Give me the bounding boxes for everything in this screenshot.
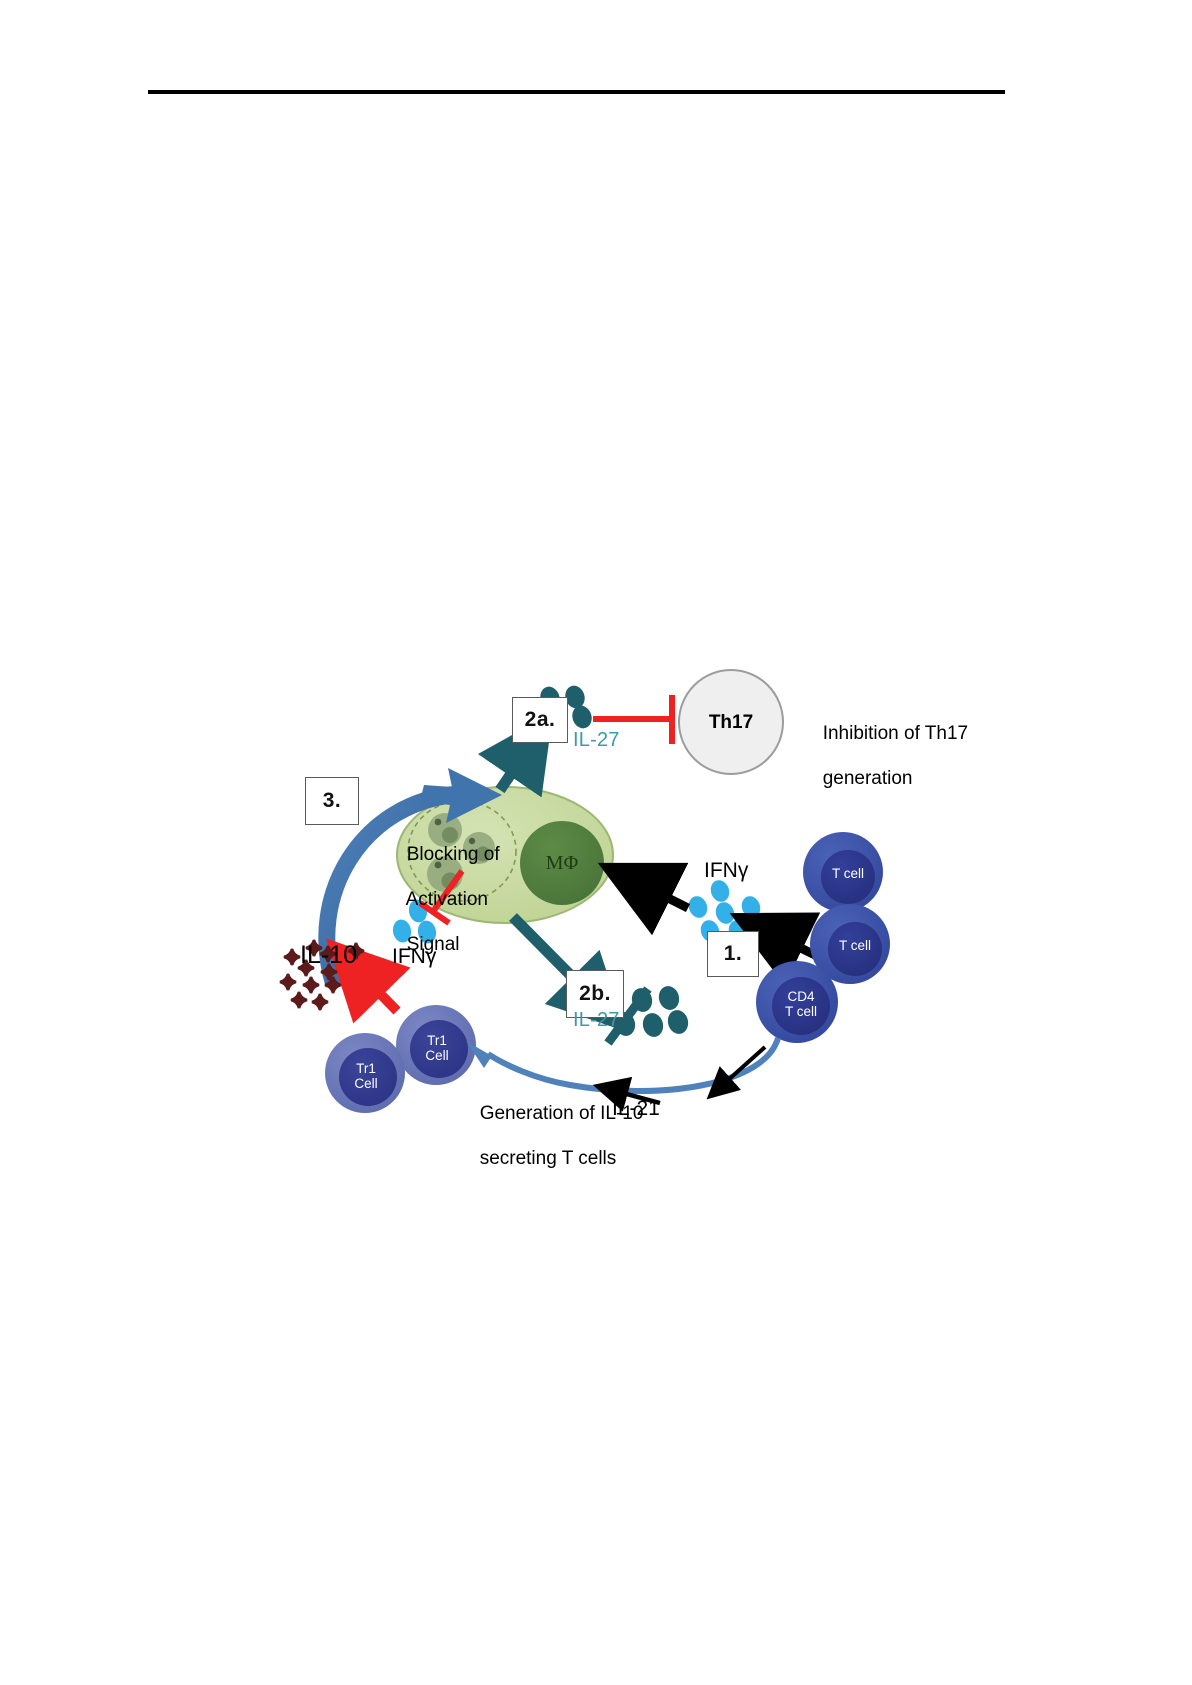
ifng-label-right: IFNγ	[704, 859, 748, 884]
inhibition-th17-line2: generation	[823, 768, 913, 789]
th17-cell-label: Th17	[681, 712, 781, 734]
pathway-diagram-figure: 2a. 3. 1. 2b. IL-27 IL-27 IFNγ IFNγ IL-1…	[270, 655, 1090, 1155]
tr1-cell-left	[325, 1033, 405, 1113]
il27-molecules-bottom	[612, 984, 691, 1039]
header-divider-rule	[148, 90, 1005, 94]
generation-line2: secreting T cells	[480, 1148, 617, 1169]
secretion-arrow-il27-top	[500, 743, 532, 790]
cd4-t-cell	[756, 961, 838, 1043]
blocking-activation-annotation: Blocking of Activation Signal	[375, 822, 500, 979]
tr1-cell-right	[396, 1005, 476, 1085]
blocking-line2: Activation	[406, 889, 488, 910]
arrow-cd4-to-il21	[717, 1047, 765, 1090]
il27-label-bottom: IL-27	[573, 1009, 620, 1032]
t-cell-upper	[803, 832, 883, 912]
step-box-1[interactable]: 1.	[707, 931, 759, 977]
arrow-ifng-to-macrophage	[630, 879, 688, 908]
blocking-line3: Signal	[407, 934, 460, 955]
step-box-2a[interactable]: 2a.	[512, 697, 568, 743]
blocking-line1: Blocking of	[407, 844, 500, 865]
document-page: 2a. 3. 1. 2b. IL-27 IL-27 IFNγ IFNγ IL-1…	[0, 0, 1192, 1685]
macrophage-label: MΦ	[522, 852, 602, 875]
inhibition-th17-annotation: Inhibition of Th17 generation	[791, 701, 968, 813]
generation-il10-annotation: Generation of IL-10 secreting T cells	[448, 1081, 643, 1193]
step-box-3[interactable]: 3.	[305, 777, 359, 825]
inhibition-th17-line1: Inhibition of Th17	[823, 723, 968, 744]
il10-label: IL-10	[300, 941, 357, 971]
arrow-tcell-to-ifng	[762, 929, 815, 955]
il27-label-top: IL-27	[573, 729, 620, 752]
generation-line1: Generation of IL-10	[480, 1103, 644, 1124]
